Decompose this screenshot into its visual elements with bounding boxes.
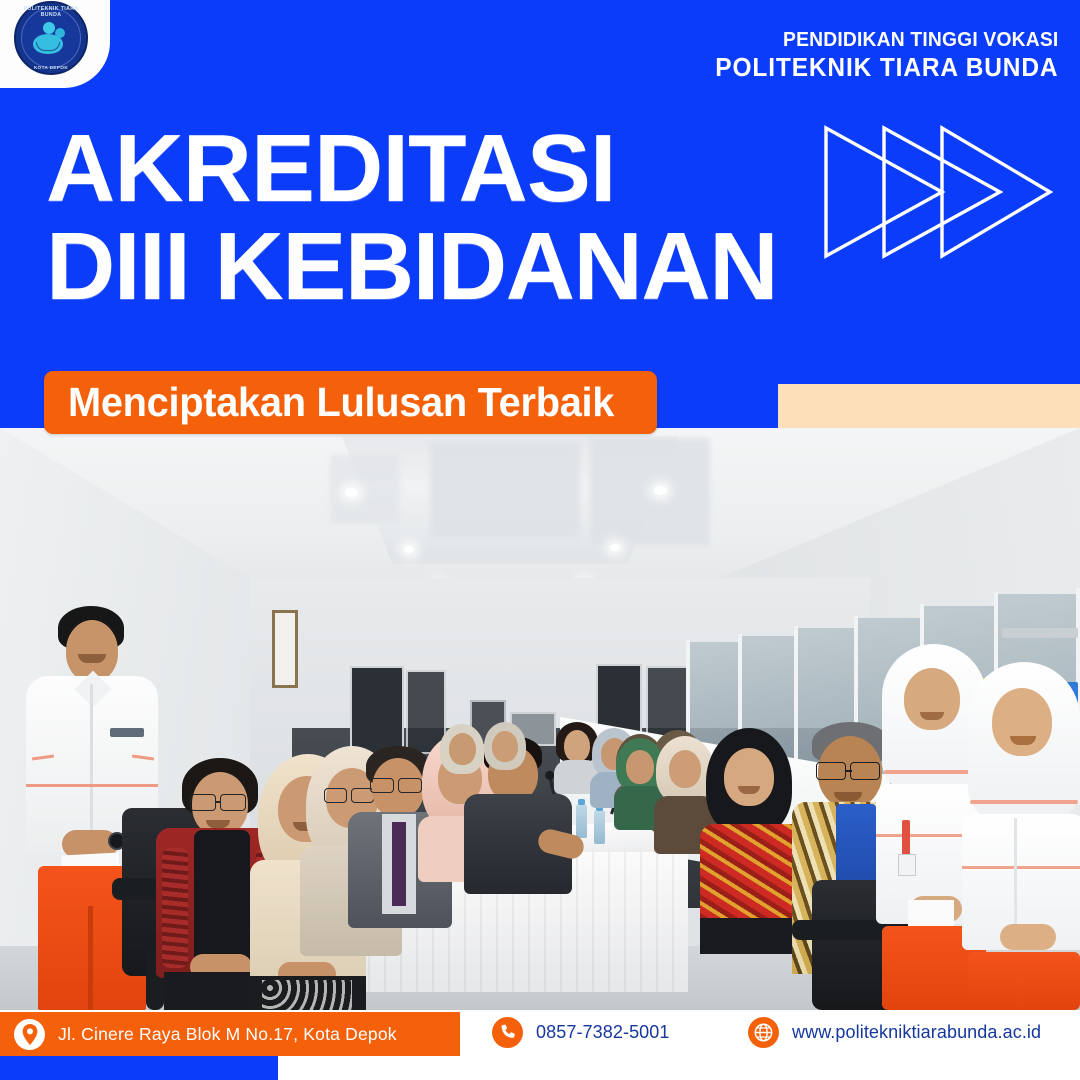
person-seated-red-batik-blazer: [700, 728, 804, 948]
location-pin-icon: [14, 1019, 45, 1050]
subtitle-banner: Menciptakan Lulusan Terbaik: [44, 371, 657, 434]
footer-blue-accent: [0, 1056, 278, 1080]
cream-accent-strip: [778, 384, 1080, 428]
seal-bottom-text: KOTA DEPOK: [14, 65, 88, 70]
globe-icon: [748, 1017, 779, 1048]
footer-address-item[interactable]: Jl. Cinere Raya Blok M No.17, Kota Depok: [0, 1012, 460, 1056]
person-background-1: [440, 724, 484, 782]
header-blue-panel: POLITEKNIK TIARA BUNDA KOTA DEPOK PENDID…: [0, 0, 1080, 432]
person-standing-student-female-2: [962, 662, 1080, 1010]
footer-phone-item[interactable]: 0857-7382-5001: [492, 1017, 670, 1048]
header-eyebrow: PENDIDIKAN TINGGI VOKASI: [722, 28, 1058, 52]
title-line-2: DIII KEBIDANAN: [46, 222, 826, 312]
title-line-1: AKREDITASI: [46, 124, 826, 214]
subtitle-text: Menciptakan Lulusan Terbaik: [68, 379, 614, 426]
phone-icon: [492, 1017, 523, 1048]
triple-chevron-arrows-icon: [822, 124, 1054, 260]
person-background-2: [484, 722, 526, 780]
footer-address-text: Jl. Cinere Raya Blok M No.17, Kota Depok: [58, 1024, 397, 1045]
footer-phone-text: 0857-7382-5001: [536, 1022, 670, 1043]
header-institution-name: POLITEKNIK TIARA BUNDA: [715, 53, 1058, 83]
footer-website-text: www.politekniktiarabunda.ac.id: [792, 1022, 1041, 1043]
institution-logo-badge[interactable]: POLITEKNIK TIARA BUNDA KOTA DEPOK: [0, 0, 110, 88]
seal-icon: POLITEKNIK TIARA BUNDA KOTA DEPOK: [14, 1, 88, 75]
header-institution-block: PENDIDIKAN TINGGI VOKASI POLITEKNIK TIAR…: [701, 28, 1058, 83]
footer-website-item[interactable]: www.politekniktiarabunda.ac.id: [748, 1017, 1041, 1048]
poster-title: AKREDITASI DIII KEBIDANAN: [46, 124, 826, 312]
meeting-photo: [0, 428, 1080, 1010]
poster-canvas: POLITEKNIK TIARA BUNDA KOTA DEPOK PENDID…: [0, 0, 1080, 1080]
seal-top-text: POLITEKNIK TIARA BUNDA: [14, 6, 88, 18]
